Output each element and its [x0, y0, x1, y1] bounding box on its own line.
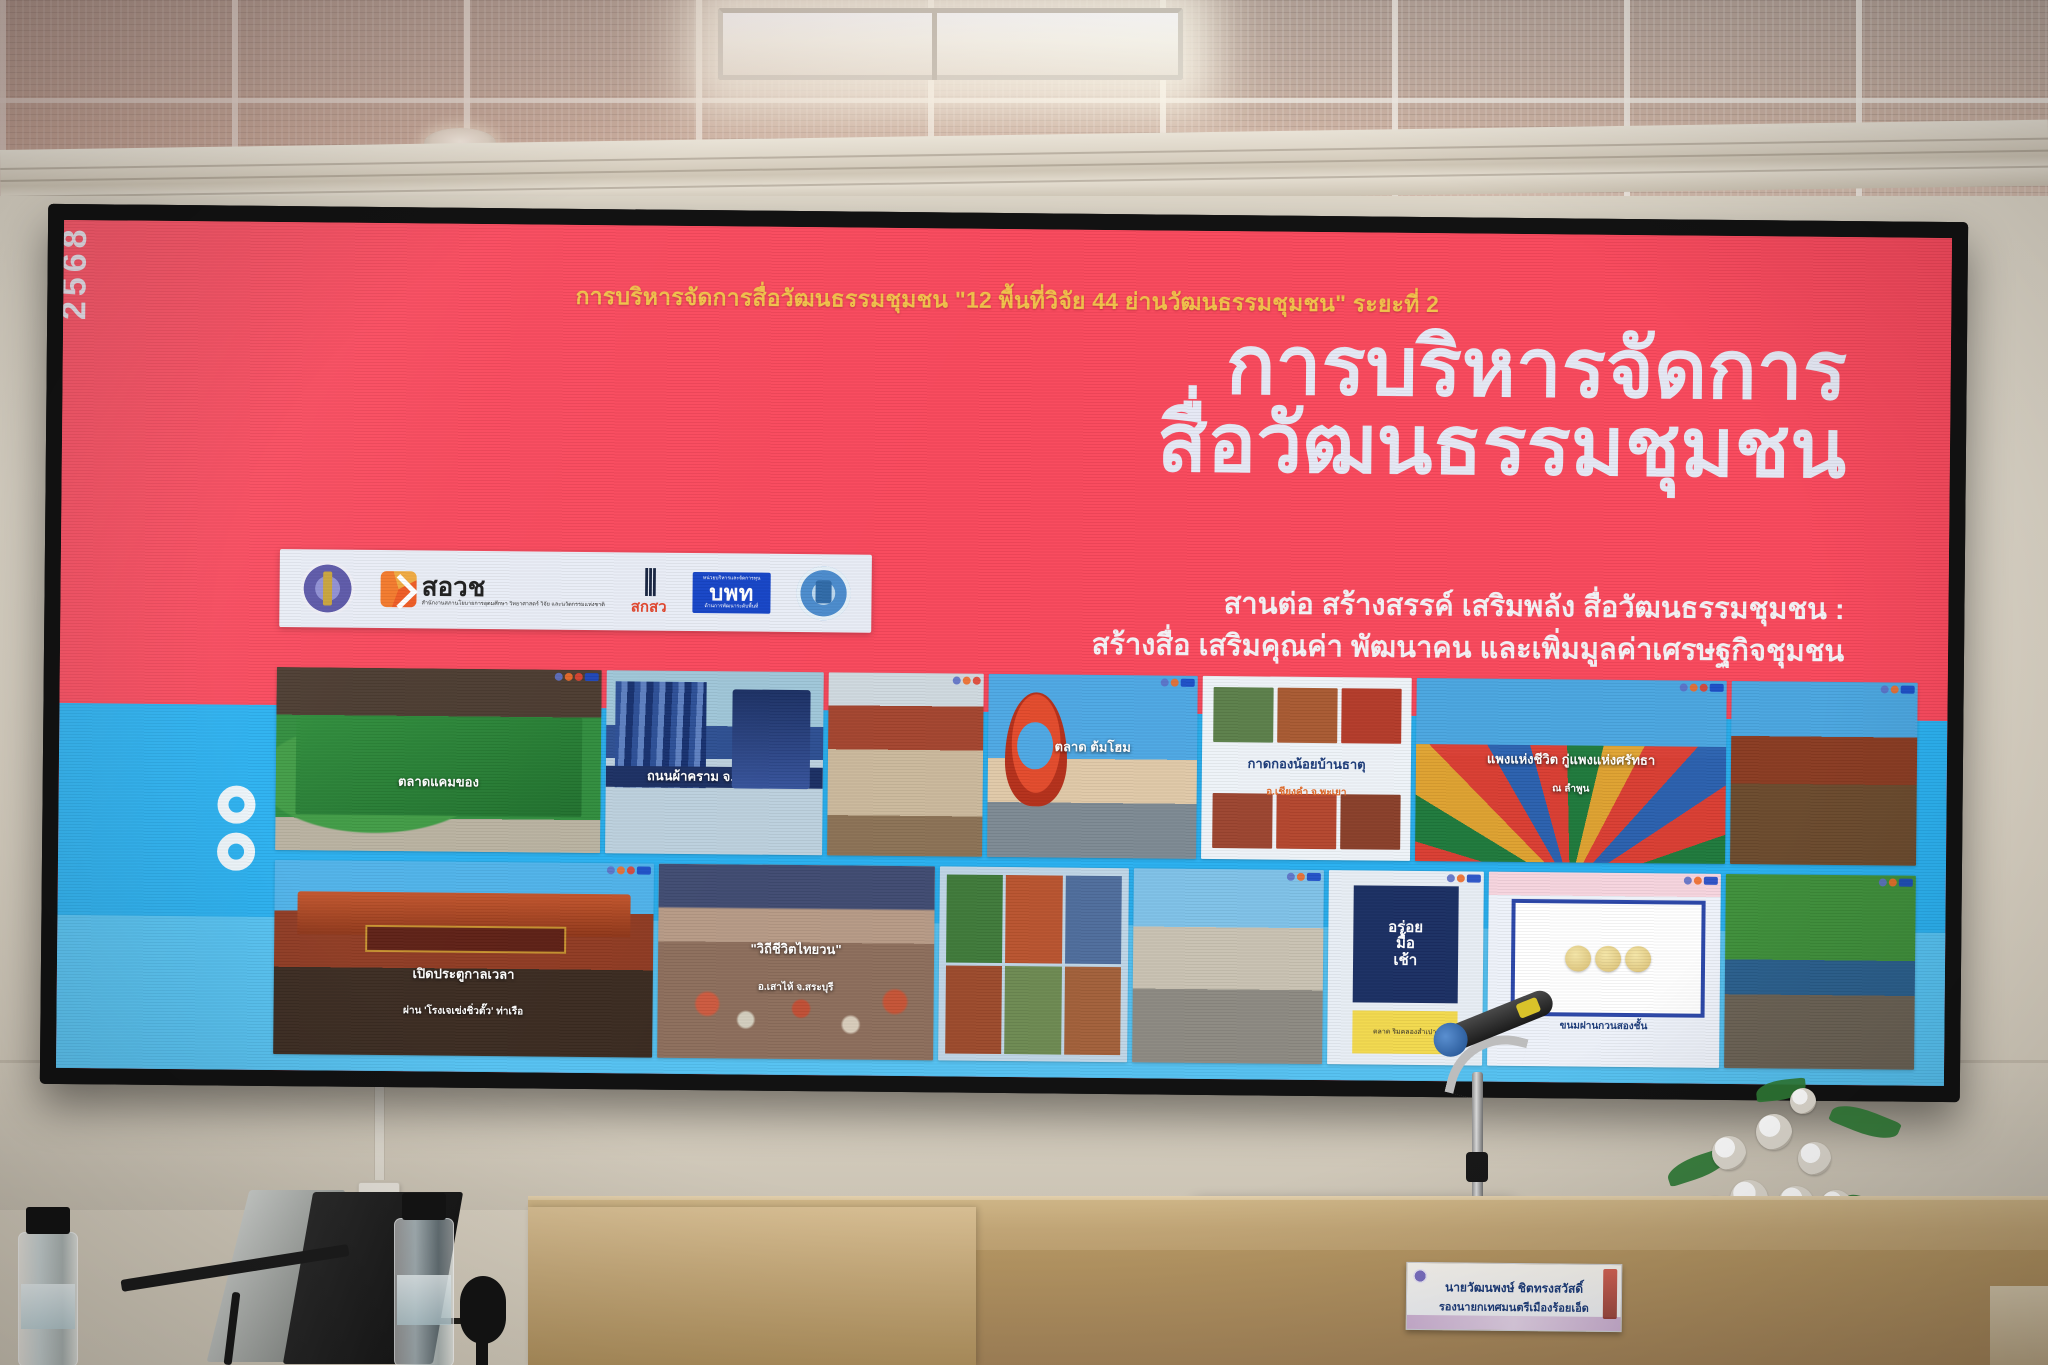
nameplate-seal-icon [1413, 1269, 1427, 1283]
photo-caption: ตลาด ต้มโฮม [988, 740, 1197, 757]
photo-caption-sub: อ.เชียงคำ จ.พะเยา [1202, 786, 1411, 800]
slide-title: การบริหารจัดการ สื่อวัฒนธรรมชุมชน [600, 318, 1848, 491]
photo-talat-tom-hom[interactable]: ตลาด ต้มโฮม [987, 674, 1198, 859]
photo-caption-sub: อ.เสาไห้ จ.สระบุรี [658, 980, 934, 994]
decorative-rings [216, 785, 255, 879]
photo-lanterns-lamphun[interactable]: แพงแห่งชีวิต กู่แพงแห่งศรัทธา ณ ลำพูน [1415, 678, 1726, 864]
logo-sovoch: สอวช สำนักงานสภานโยบายการอุดมศึกษา วิทยา… [380, 550, 605, 630]
photo-caption: ถนนผ้าคราม จ.สกลนคร [606, 766, 823, 789]
cardboard-box [1990, 1286, 2048, 1365]
photo-strip: ตลาดแคมของ ถนนผ้าคราม จ.สกลนคร ตลาด ต้มโ… [273, 667, 1917, 1072]
photo-caption: แพงแห่งชีวิต กู่แพงแห่งศรัทธา [1416, 751, 1726, 769]
sovoch-arrow-icon [380, 571, 416, 607]
screenshot-root: การบริหารจัดการสื่อวัฒนธรรมชุมชน "12 พื้… [0, 0, 2048, 1365]
nameplate: นายวัฒนพงษ์ ชิตทรงสวัสดิ์ รองนายกเทศมนตร… [1406, 1262, 1623, 1332]
logo-university-seal-purple [300, 550, 355, 629]
photo-talat-kaem-khong[interactable]: ตลาดแคมของ [275, 667, 602, 853]
bopot-bottom-label: ด้านการพัฒนาระดับพื้นที่ [704, 604, 758, 610]
photo-caption: "วิถีชีวิตไทยวน" [658, 942, 934, 960]
photo-temple-street[interactable] [827, 673, 984, 857]
photo-chinese-shrine-tha-ruea[interactable]: เปิดประตูกาลเวลา ผ่าน 'โรงเจเข่งชิ่วตั๊ว… [273, 860, 654, 1058]
photo-row-top: ตลาดแคมของ ถนนผ้าคราม จ.สกลนคร ตลาด ต้มโ… [275, 667, 1917, 866]
photo-caption-sub: มื้อ [1396, 936, 1415, 953]
photo-thanon-pha-khram[interactable]: ถนนผ้าคราม จ.สกลนคร [605, 670, 824, 855]
sovoch-sublabel: สำนักงานสภานโยบายการอุดมศึกษา วิทยาศาสตร… [421, 601, 604, 608]
photo-tree-market[interactable] [1724, 874, 1915, 1070]
presentation-slide: การบริหารจัดการสื่อวัฒนธรรมชุมชน "12 พื้… [56, 220, 1952, 1086]
nameplate-title: รองนายกเทศมนตรีเมืองร้อยเอ็ด [1439, 1297, 1589, 1317]
bottle-cap [402, 1193, 446, 1220]
ring-icon [217, 785, 255, 823]
projection-screen[interactable]: การบริหารจัดการสื่อวัฒนธรรมชุมชน "12 พื้… [40, 204, 1968, 1102]
slide-title-line2: สื่อวัฒนธรรมชุมชน [600, 396, 1847, 492]
bopot-label: บพท [709, 581, 754, 605]
sakasow-label: สกสว [631, 600, 667, 615]
photo-caption-sub: ผ่าน 'โรงเจเข่งชิ่วตั๊ว' ท่าเรือ [274, 1004, 653, 1019]
logo-sakasow: ⫼ สกสว [631, 553, 668, 631]
sakasow-mark-icon: ⫼ [643, 569, 654, 599]
photo-market-collage[interactable] [938, 866, 1129, 1062]
photo-caption: อร่อย [1388, 919, 1423, 936]
sponsor-logo-bar: สอวช สำนักงานสภานโยบายการอุดมศึกษา วิทยา… [279, 549, 872, 633]
logo-silpakorn-seal-blue [796, 554, 851, 633]
handheld-microphone[interactable] [460, 1276, 506, 1344]
bottle-label [397, 1275, 451, 1325]
photo-caption: ตลาดแคมของ [276, 773, 601, 791]
photo-caption-sub2: เช้า [1393, 953, 1417, 970]
sovoch-label: สอวช [422, 573, 606, 601]
water-bottle[interactable] [18, 1232, 78, 1365]
ring-icon [216, 832, 254, 870]
photo-caption: กาดกองน้อยบ้านธาตุ [1202, 756, 1411, 773]
water-bottle[interactable] [394, 1218, 454, 1365]
microphone-collar [1466, 1152, 1488, 1182]
bottle-label [21, 1284, 75, 1329]
photo-wit-chiwit-thai-yuan[interactable]: "วิถีชีวิตไทยวน" อ.เสาไห้ จ.สระบุรี [657, 864, 934, 1061]
logo-bopot: หน่วยบริหารและจัดการทุน บพท ด้านการพัฒนา… [692, 553, 770, 632]
photo-caption-sub: ณ ลำพูน [1416, 782, 1726, 796]
bottle-cap [26, 1207, 70, 1234]
nameplate-name: นายวัฒนพงษ์ ชิตทรงสวัสดิ์ [1445, 1278, 1583, 1298]
photo-shrine-gate[interactable] [1730, 681, 1918, 866]
photo-caption: เปิดประตูกาลเวลา [274, 965, 653, 984]
podium [528, 1207, 976, 1365]
photo-row-bottom: เปิดประตูกาลเวลา ผ่าน 'โรงเจเข่งชิ่วตั๊ว… [273, 860, 1915, 1070]
photo-street-view[interactable] [1132, 868, 1323, 1064]
photo-kat-kong-noi-ban-that[interactable]: กาดกองน้อยบ้านธาตุ อ.เชียงคำ จ.พะเยา [1201, 676, 1412, 861]
